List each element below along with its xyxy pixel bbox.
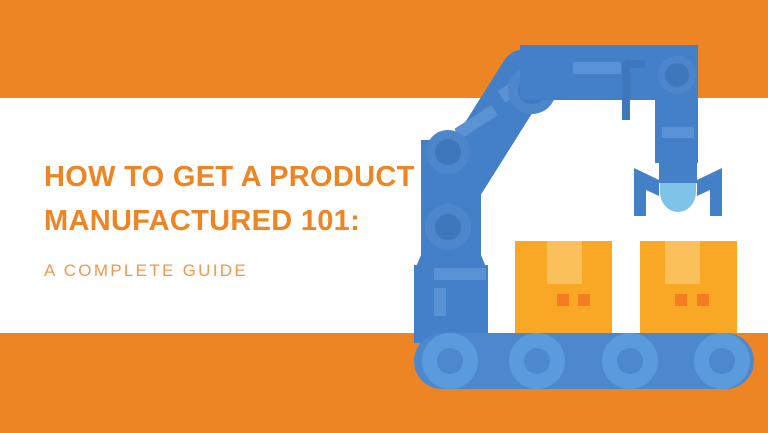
gripper-collar xyxy=(659,163,697,183)
subtitle: A COMPLETE GUIDE xyxy=(44,261,424,281)
box-1-dot-left xyxy=(557,294,569,306)
blog-header-banner: HOW TO GET A PRODUCT MANUFACTURED 101: A… xyxy=(0,0,768,433)
box-1 xyxy=(515,241,612,333)
headline-line-2: MANUFACTURED 101: xyxy=(44,199,424,243)
headline-line-1: HOW TO GET A PRODUCT xyxy=(44,155,424,199)
column-light-stripe-wide xyxy=(434,268,486,280)
wrist-light-stripe xyxy=(662,127,694,138)
box-1-flap xyxy=(547,241,582,284)
column-light-stripe-tall xyxy=(434,288,446,316)
top-beam-dark-cap xyxy=(625,60,645,68)
conveyor-roller-3-inner xyxy=(617,348,643,374)
gripper-claw-right xyxy=(697,168,722,216)
box-1-dot-right xyxy=(578,294,590,306)
headline-block: HOW TO GET A PRODUCT MANUFACTURED 101: A… xyxy=(44,155,424,281)
boxes-group xyxy=(515,241,737,333)
box-2-flap xyxy=(665,241,700,284)
conveyor-roller-4-inner xyxy=(709,348,735,374)
box-2-dot-left xyxy=(675,294,687,306)
top-beam-light-stripe xyxy=(573,62,621,74)
conveyor-belt-group xyxy=(414,333,754,389)
gripper-claw-left xyxy=(634,168,659,216)
robot-lower-column-group xyxy=(414,130,488,343)
joint-inner-column-mid xyxy=(435,214,461,240)
box-2-dot-right xyxy=(697,294,709,306)
box-2 xyxy=(640,241,737,333)
top-beam-dark-stripe xyxy=(622,62,630,120)
gripper-head xyxy=(660,183,696,212)
conveyor-roller-2-inner xyxy=(524,348,550,374)
joint-inner-column-top xyxy=(435,139,461,165)
joint-inner-wrist xyxy=(665,63,689,87)
conveyor-roller-1-inner xyxy=(437,348,463,374)
